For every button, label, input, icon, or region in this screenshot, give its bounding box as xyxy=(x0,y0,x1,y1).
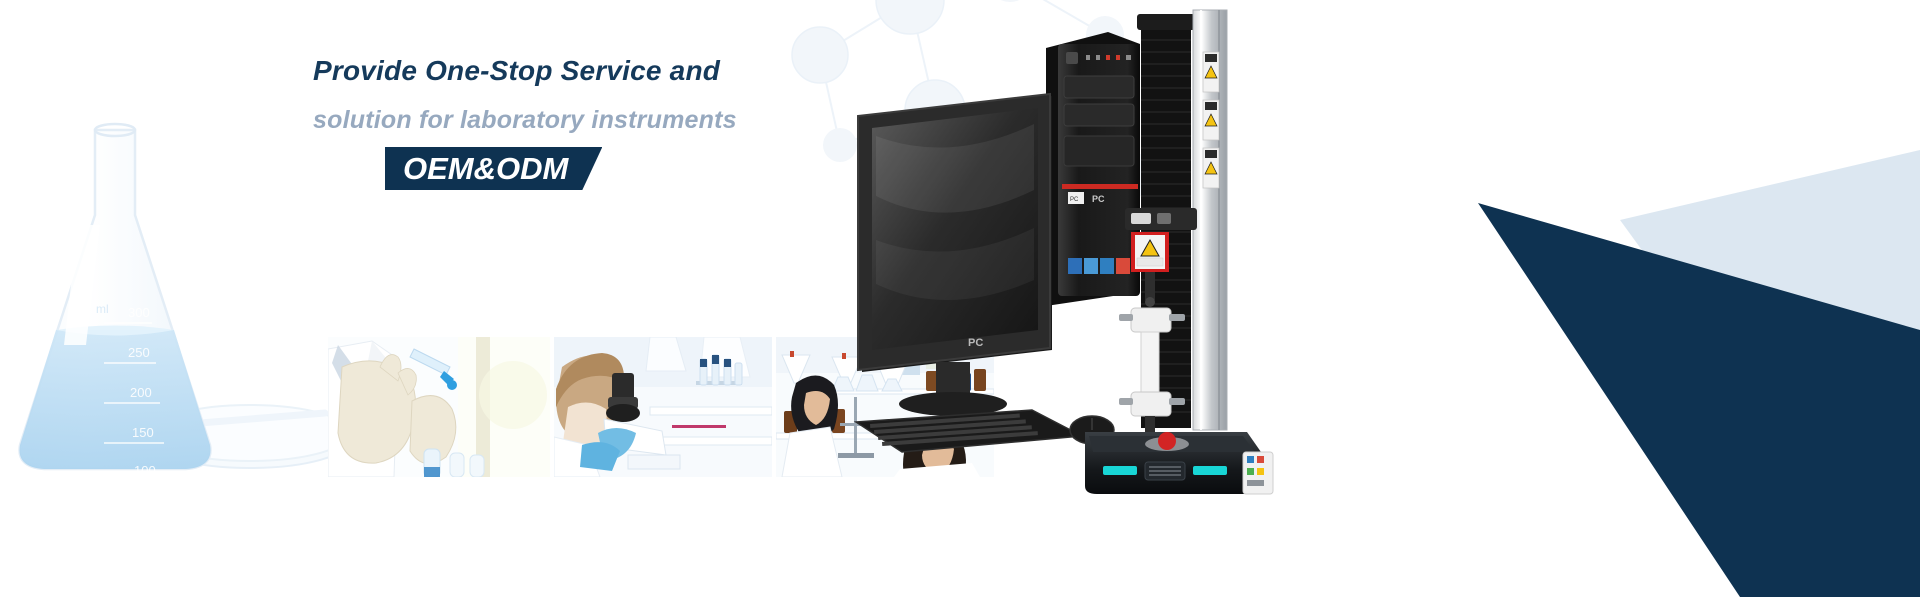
promo-banner: 300 250 200 150 100 ml Provide One-Stop … xyxy=(0,0,1920,597)
svg-text:PC: PC xyxy=(1092,194,1105,204)
petri-dish xyxy=(150,405,350,468)
headline-line-1: Provide One-Stop Service and xyxy=(313,55,1073,87)
arrow-light xyxy=(1620,150,1920,420)
svg-text:250: 250 xyxy=(128,345,150,360)
decorative-arrows xyxy=(1180,0,1920,597)
warning-label xyxy=(1203,52,1219,188)
photo-lab-bench xyxy=(776,337,994,477)
photo-strip xyxy=(328,337,994,477)
universal-tensile-testing-machine xyxy=(1075,0,1305,500)
arrow-dark xyxy=(1478,203,1920,597)
status-indicator xyxy=(1103,466,1227,475)
svg-text:ml: ml xyxy=(96,302,109,316)
svg-text:150: 150 xyxy=(132,425,154,440)
mouse xyxy=(1070,416,1114,444)
svg-text:300: 300 xyxy=(128,305,150,320)
svg-text:PC: PC xyxy=(1070,197,1079,203)
svg-text:100: 100 xyxy=(134,463,156,478)
erlenmeyer-flask: 300 250 200 150 100 ml xyxy=(20,124,211,478)
photo-microscope xyxy=(554,337,772,477)
headline-block: Provide One-Stop Service and solution fo… xyxy=(313,55,1073,135)
svg-text:200: 200 xyxy=(130,385,152,400)
headline-line-2: solution for laboratory instruments xyxy=(313,106,1073,135)
oem-odm-badge: OEM&ODM xyxy=(385,147,602,190)
oem-odm-badge-wrap: OEM&ODM xyxy=(385,147,602,190)
photo-pipetting xyxy=(328,337,550,477)
